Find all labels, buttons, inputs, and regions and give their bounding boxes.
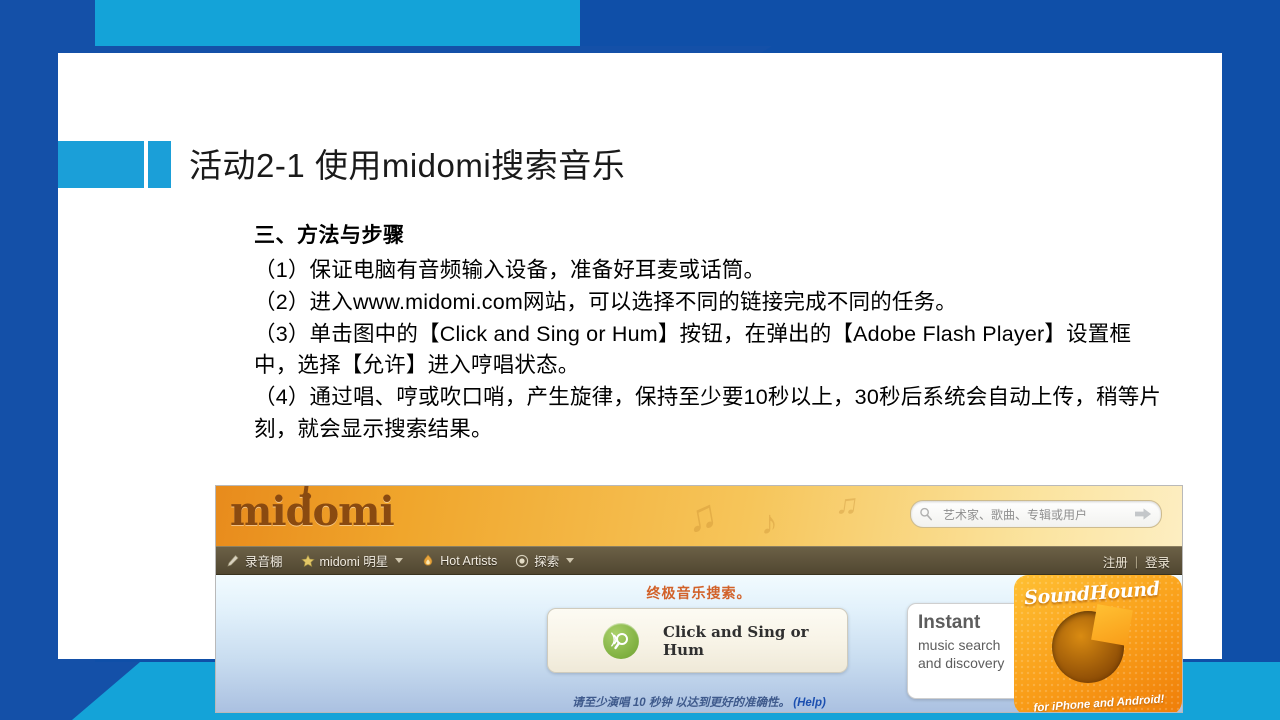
nav-label: Hot Artists xyxy=(440,554,497,568)
step-2: （2）进入www.midomi.com网站，可以选择不同的链接完成不同的任务。 xyxy=(254,287,1164,319)
title-accent-tick xyxy=(148,141,171,188)
step-1: （1）保证电脑有音频输入设备，准备好耳麦或话筒。 xyxy=(254,255,1164,287)
midomi-logo[interactable]: midomi xyxy=(230,492,394,532)
nav-label: 探索 xyxy=(534,551,559,570)
flame-icon xyxy=(421,554,435,568)
midomi-main-area: 终极音乐搜索。 Click and Sing or Hum 请至少演唱 10 秒… xyxy=(216,575,1182,713)
page-title: 活动2-1 使用midomi搜索音乐 xyxy=(189,139,625,187)
microphone-icon xyxy=(226,554,240,568)
nav-item-hot-artists[interactable]: Hot Artists xyxy=(421,554,497,568)
midomi-header: ♫ ♪ ♫ midomi 艺术家、歌曲、专辑或用户 xyxy=(216,486,1182,546)
slide-content-card: 活动2-1 使用midomi搜索音乐 三、方法与步骤 （1）保证电脑有音频输入设… xyxy=(58,53,1222,659)
help-link[interactable]: (Help) xyxy=(793,697,826,709)
star-icon xyxy=(301,554,315,568)
bubble-subtext: music search and discovery xyxy=(918,637,1020,672)
help-hint-text: 请至少演唱 10 秒钟 以达到更好的准确性。 xyxy=(572,697,790,709)
sing-button-label: Click and Sing or Hum xyxy=(663,623,847,659)
arrow-right-icon[interactable] xyxy=(1135,507,1152,521)
chevron-down-icon xyxy=(566,558,574,563)
soundhound-logo-icon xyxy=(1052,611,1124,683)
account-links: 注册 | 登录 xyxy=(1103,552,1170,571)
search-box[interactable]: 艺术家、歌曲、专辑或用户 xyxy=(910,500,1162,528)
account-separator: | xyxy=(1135,555,1138,569)
sing-search-icon xyxy=(603,623,639,659)
nav-item-recording-studio[interactable]: 录音棚 xyxy=(226,551,283,570)
soundhound-subtitle: for iPhone and Android! xyxy=(1020,693,1178,713)
nav-label: 录音棚 xyxy=(245,551,283,570)
click-and-sing-or-hum-button[interactable]: Click and Sing or Hum xyxy=(547,608,848,673)
logo-note-icon xyxy=(303,485,319,497)
soundhound-speech-bubble: Instant music search and discovery xyxy=(907,603,1027,699)
register-link[interactable]: 注册 xyxy=(1103,552,1128,571)
title-accent-bar xyxy=(58,141,144,188)
midomi-nav-bar: 录音棚 midomi 明星 Hot Artists xyxy=(216,546,1182,575)
music-note-icon: ♫ xyxy=(834,487,861,524)
bubble-headline: Instant xyxy=(918,612,980,634)
compass-icon xyxy=(515,554,529,568)
music-note-icon: ♫ xyxy=(682,490,721,543)
music-note-icon: ♪ xyxy=(761,504,778,543)
search-input-placeholder: 艺术家、歌曲、专辑或用户 xyxy=(943,506,1087,523)
soundhound-ad-banner[interactable]: SoundHound for iPhone and Android! xyxy=(1014,575,1182,713)
slide-body: 三、方法与步骤 （1）保证电脑有音频输入设备，准备好耳麦或话筒。 （2）进入ww… xyxy=(254,219,1164,446)
nav-item-midomi-stars[interactable]: midomi 明星 xyxy=(301,551,404,570)
step-3: （3）单击图中的【Click and Sing or Hum】按钮，在弹出的【A… xyxy=(254,319,1164,383)
chevron-down-icon xyxy=(395,558,403,563)
step-4: （4）通过唱、哼或吹口哨，产生旋律，保持至少要10秒以上，30秒后系统会自动上传… xyxy=(254,382,1164,446)
section-heading: 三、方法与步骤 xyxy=(254,219,1164,249)
nav-label: midomi 明星 xyxy=(320,551,389,570)
nav-item-explore[interactable]: 探索 xyxy=(515,551,574,570)
midomi-screenshot-image: ♫ ♪ ♫ midomi 艺术家、歌曲、专辑或用户 xyxy=(215,485,1183,713)
search-icon xyxy=(919,507,933,521)
login-link[interactable]: 登录 xyxy=(1145,552,1170,571)
